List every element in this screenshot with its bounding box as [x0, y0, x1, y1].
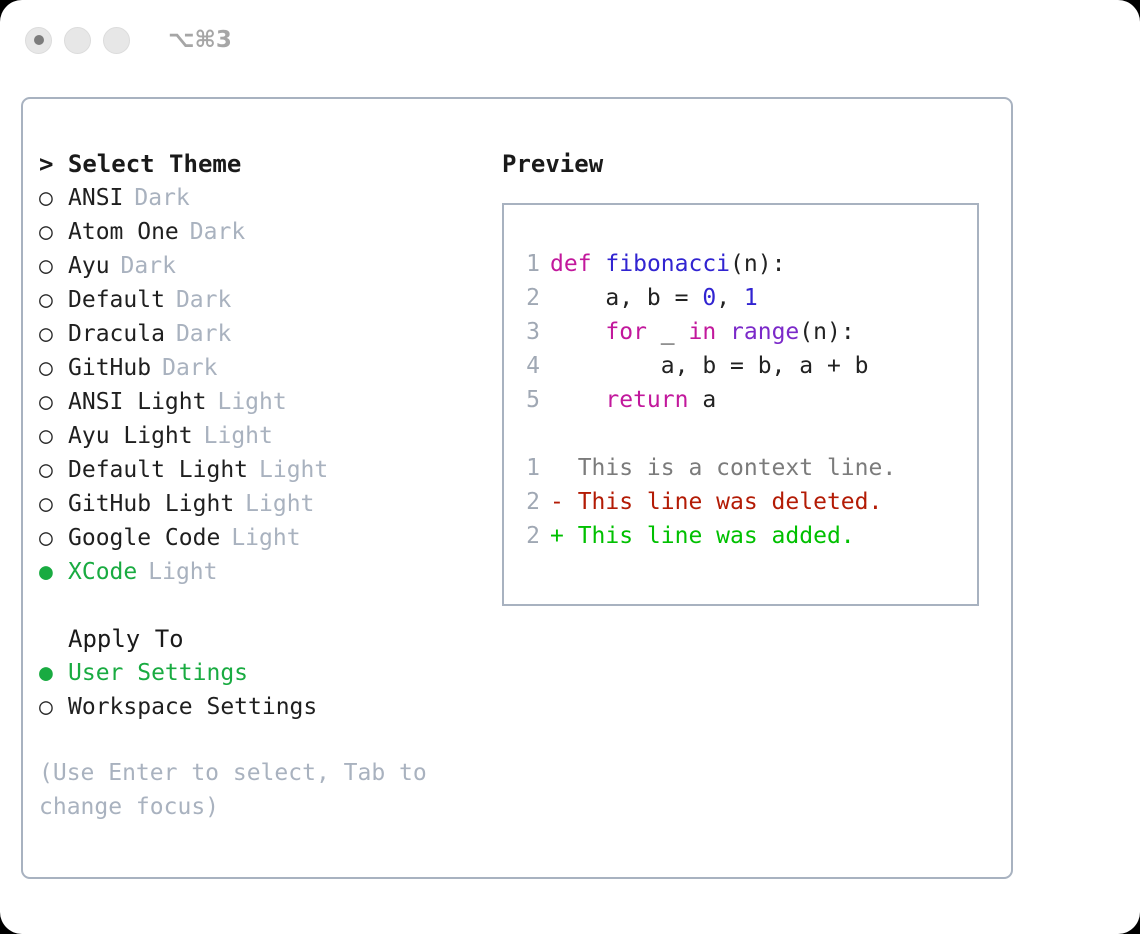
- code-line: 4 a, b = b, a + b: [504, 349, 977, 383]
- theme-option-tag: Light: [245, 487, 314, 521]
- theme-option-label: Ayu: [68, 249, 110, 283]
- app-window: ⌥⌘3 > Select Theme ○ANSIDark○Atom OneDar…: [0, 0, 1140, 934]
- code-token: [716, 319, 730, 345]
- code-token: [550, 319, 605, 345]
- panel-columns: > Select Theme ○ANSIDark○Atom OneDark○Ay…: [23, 99, 1011, 877]
- apply-option-1[interactable]: ○Workspace Settings: [39, 690, 479, 724]
- apply-option-0[interactable]: ●User Settings: [39, 656, 479, 690]
- apply-option-label: User Settings: [68, 656, 248, 690]
- code-token: for: [605, 319, 647, 345]
- window-maximize-button[interactable]: [103, 27, 130, 54]
- code-token: def: [550, 251, 592, 277]
- code-diff-separator: [504, 417, 977, 451]
- theme-option-tag: Dark: [176, 317, 231, 351]
- radio-unselected-icon: ○: [39, 181, 68, 215]
- theme-option-10[interactable]: ○Google CodeLight: [39, 521, 479, 555]
- diff-line: 2+ This line was added.: [504, 519, 977, 553]
- code-line-content: for _ in range(n):: [550, 315, 855, 349]
- radio-unselected-icon: ○: [39, 249, 68, 283]
- theme-selection-column: > Select Theme ○ANSIDark○Atom OneDark○Ay…: [39, 147, 479, 824]
- radio-unselected-icon: ○: [39, 317, 68, 351]
- diff-line-content: + This line was added.: [550, 519, 855, 553]
- theme-option-label: ANSI Light: [68, 385, 206, 419]
- theme-list: ○ANSIDark○Atom OneDark○AyuDark○DefaultDa…: [39, 181, 479, 589]
- theme-option-label: Ayu Light: [68, 419, 193, 453]
- select-theme-heading: > Select Theme: [39, 147, 479, 181]
- theme-option-tag: Dark: [162, 351, 217, 385]
- preview-heading: Preview: [502, 147, 992, 181]
- diff-line-content: This is a context line.: [550, 451, 896, 485]
- theme-option-label: GitHub Light: [68, 487, 234, 521]
- theme-option-tag: Light: [217, 385, 286, 419]
- theme-option-11[interactable]: ●XCodeLight: [39, 555, 479, 589]
- code-token: a, b = b, a + b: [550, 353, 869, 379]
- main-panel: > Select Theme ○ANSIDark○Atom OneDark○Ay…: [21, 97, 1013, 879]
- theme-option-tag: Dark: [121, 249, 176, 283]
- radio-selected-icon: ●: [39, 555, 68, 589]
- theme-option-8[interactable]: ○Default LightLight: [39, 453, 479, 487]
- code-token: ,: [716, 285, 744, 311]
- theme-option-2[interactable]: ○AyuDark: [39, 249, 479, 283]
- preview-column: Preview 1def fibonacci(n):2 a, b = 0, 13…: [502, 147, 992, 606]
- theme-option-1[interactable]: ○Atom OneDark: [39, 215, 479, 249]
- theme-option-tag: Dark: [190, 215, 245, 249]
- theme-option-0[interactable]: ○ANSIDark: [39, 181, 479, 215]
- apply-to-heading: Apply To: [39, 622, 479, 656]
- code-line-number: 3: [504, 315, 550, 349]
- theme-option-5[interactable]: ○GitHubDark: [39, 351, 479, 385]
- theme-option-7[interactable]: ○Ayu LightLight: [39, 419, 479, 453]
- theme-option-label: XCode: [68, 555, 137, 589]
- code-token: (n):: [730, 251, 785, 277]
- diff-preview-block: 1 This is a context line.2- This line wa…: [504, 451, 977, 553]
- code-token: (n):: [799, 319, 854, 345]
- apply-to-list: ●User Settings○Workspace Settings: [39, 656, 479, 724]
- code-token: return: [605, 387, 688, 413]
- code-line-number: 2: [504, 281, 550, 315]
- code-token: [550, 387, 605, 413]
- code-token: in: [688, 319, 716, 345]
- theme-option-label: Default: [68, 283, 165, 317]
- apply-option-label: Workspace Settings: [68, 690, 317, 724]
- code-line: 5 return a: [504, 383, 977, 417]
- diff-line: 1 This is a context line.: [504, 451, 977, 485]
- theme-option-label: Google Code: [68, 521, 220, 555]
- radio-unselected-icon: ○: [39, 487, 68, 521]
- theme-option-tag: Light: [204, 419, 273, 453]
- window-close-button[interactable]: [25, 27, 52, 54]
- radio-unselected-icon: ○: [39, 351, 68, 385]
- code-token: This is a context line.: [550, 455, 896, 481]
- traffic-lights: [25, 27, 130, 54]
- code-token: - This line was deleted.: [550, 489, 882, 515]
- code-token: 0: [702, 285, 716, 311]
- theme-option-9[interactable]: ○GitHub LightLight: [39, 487, 479, 521]
- radio-unselected-icon: ○: [39, 521, 68, 555]
- diff-line-number: 2: [504, 519, 550, 553]
- preview-box: 1def fibonacci(n):2 a, b = 0, 13 for _ i…: [502, 203, 979, 606]
- radio-unselected-icon: ○: [39, 453, 68, 487]
- theme-option-label: ANSI: [68, 181, 123, 215]
- code-line-number: 4: [504, 349, 550, 383]
- theme-option-tag: Light: [148, 555, 217, 589]
- code-line-content: def fibonacci(n):: [550, 247, 785, 281]
- theme-option-label: Dracula: [68, 317, 165, 351]
- radio-selected-icon: ●: [39, 656, 68, 690]
- theme-option-label: Default Light: [68, 453, 248, 487]
- code-line-number: 1: [504, 247, 550, 281]
- code-token: a, b =: [550, 285, 702, 311]
- theme-option-label: Atom One: [68, 215, 179, 249]
- diff-line-content: - This line was deleted.: [550, 485, 882, 519]
- code-line-content: a, b = 0, 1: [550, 281, 758, 315]
- diff-line-number: 1: [504, 451, 550, 485]
- code-line: 1def fibonacci(n):: [504, 247, 977, 281]
- window-minimize-button[interactable]: [64, 27, 91, 54]
- code-preview-block: 1def fibonacci(n):2 a, b = 0, 13 for _ i…: [504, 247, 977, 417]
- diff-line-number: 2: [504, 485, 550, 519]
- radio-unselected-icon: ○: [39, 283, 68, 317]
- theme-option-label: GitHub: [68, 351, 151, 385]
- keyboard-shortcut-label: ⌥⌘3: [168, 27, 232, 53]
- code-token: fibonacci: [605, 251, 730, 277]
- code-line-content: a, b = b, a + b: [550, 349, 869, 383]
- code-token: + This line was added.: [550, 523, 855, 549]
- radio-unselected-icon: ○: [39, 215, 68, 249]
- theme-option-4[interactable]: ○DraculaDark: [39, 317, 479, 351]
- theme-option-tag: Light: [231, 521, 300, 555]
- code-token: _: [647, 319, 689, 345]
- code-line: 2 a, b = 0, 1: [504, 281, 977, 315]
- keyboard-hint-text: (Use Enter to select, Tab to change focu…: [39, 756, 449, 824]
- section-spacer: [39, 589, 479, 622]
- radio-unselected-icon: ○: [39, 385, 68, 419]
- theme-option-tag: Dark: [176, 283, 231, 317]
- code-token: [592, 251, 606, 277]
- radio-unselected-icon: ○: [39, 419, 68, 453]
- theme-option-tag: Light: [259, 453, 328, 487]
- code-line: 3 for _ in range(n):: [504, 315, 977, 349]
- theme-option-tag: Dark: [134, 181, 189, 215]
- code-token: range: [730, 319, 799, 345]
- active-indicator-dot: [34, 35, 44, 45]
- window-titlebar: ⌥⌘3: [0, 0, 1140, 80]
- code-line-number: 5: [504, 383, 550, 417]
- theme-option-3[interactable]: ○DefaultDark: [39, 283, 479, 317]
- code-token: 1: [744, 285, 758, 311]
- code-token: a: [688, 387, 716, 413]
- code-line-content: return a: [550, 383, 716, 417]
- theme-option-6[interactable]: ○ANSI LightLight: [39, 385, 479, 419]
- diff-line: 2- This line was deleted.: [504, 485, 977, 519]
- radio-unselected-icon: ○: [39, 690, 68, 724]
